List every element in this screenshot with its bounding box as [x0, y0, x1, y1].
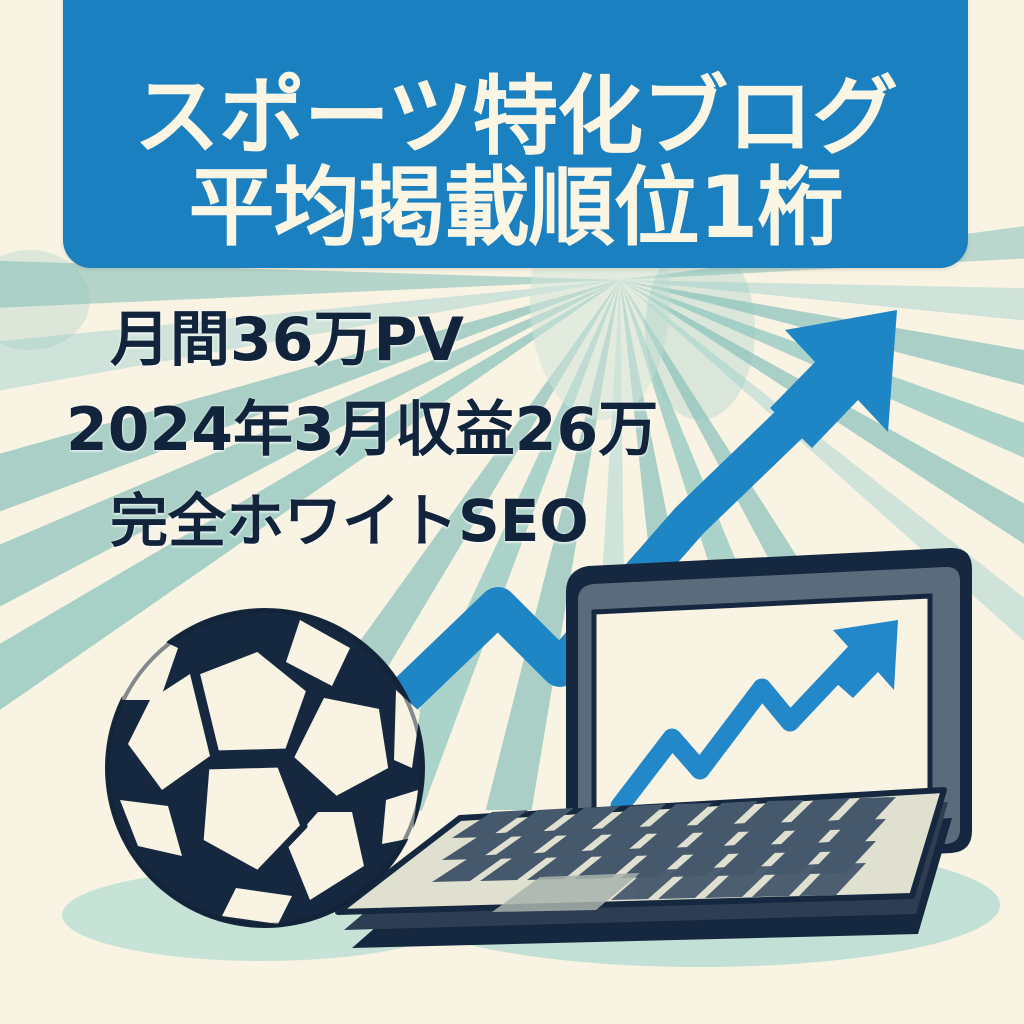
poster-canvas: スポーツ特化ブログ 平均掲載順位1桁 月間36万PV 2024年3月収益26万 …	[0, 0, 1024, 1024]
title-line-2: 平均掲載順位1桁	[189, 163, 843, 254]
soccer-ball-icon	[105, 608, 425, 928]
title-banner: スポーツ特化ブログ 平均掲載順位1桁	[63, 0, 968, 268]
laptop-icon	[338, 548, 972, 948]
highlight-item-revenue: 2024年3月収益26万	[66, 400, 658, 460]
highlight-item-seo: 完全ホワイトSEO	[110, 492, 589, 550]
title-line-1: スポーツ特化ブログ	[134, 72, 897, 163]
highlight-item-pv: 月間36万PV	[110, 310, 464, 370]
